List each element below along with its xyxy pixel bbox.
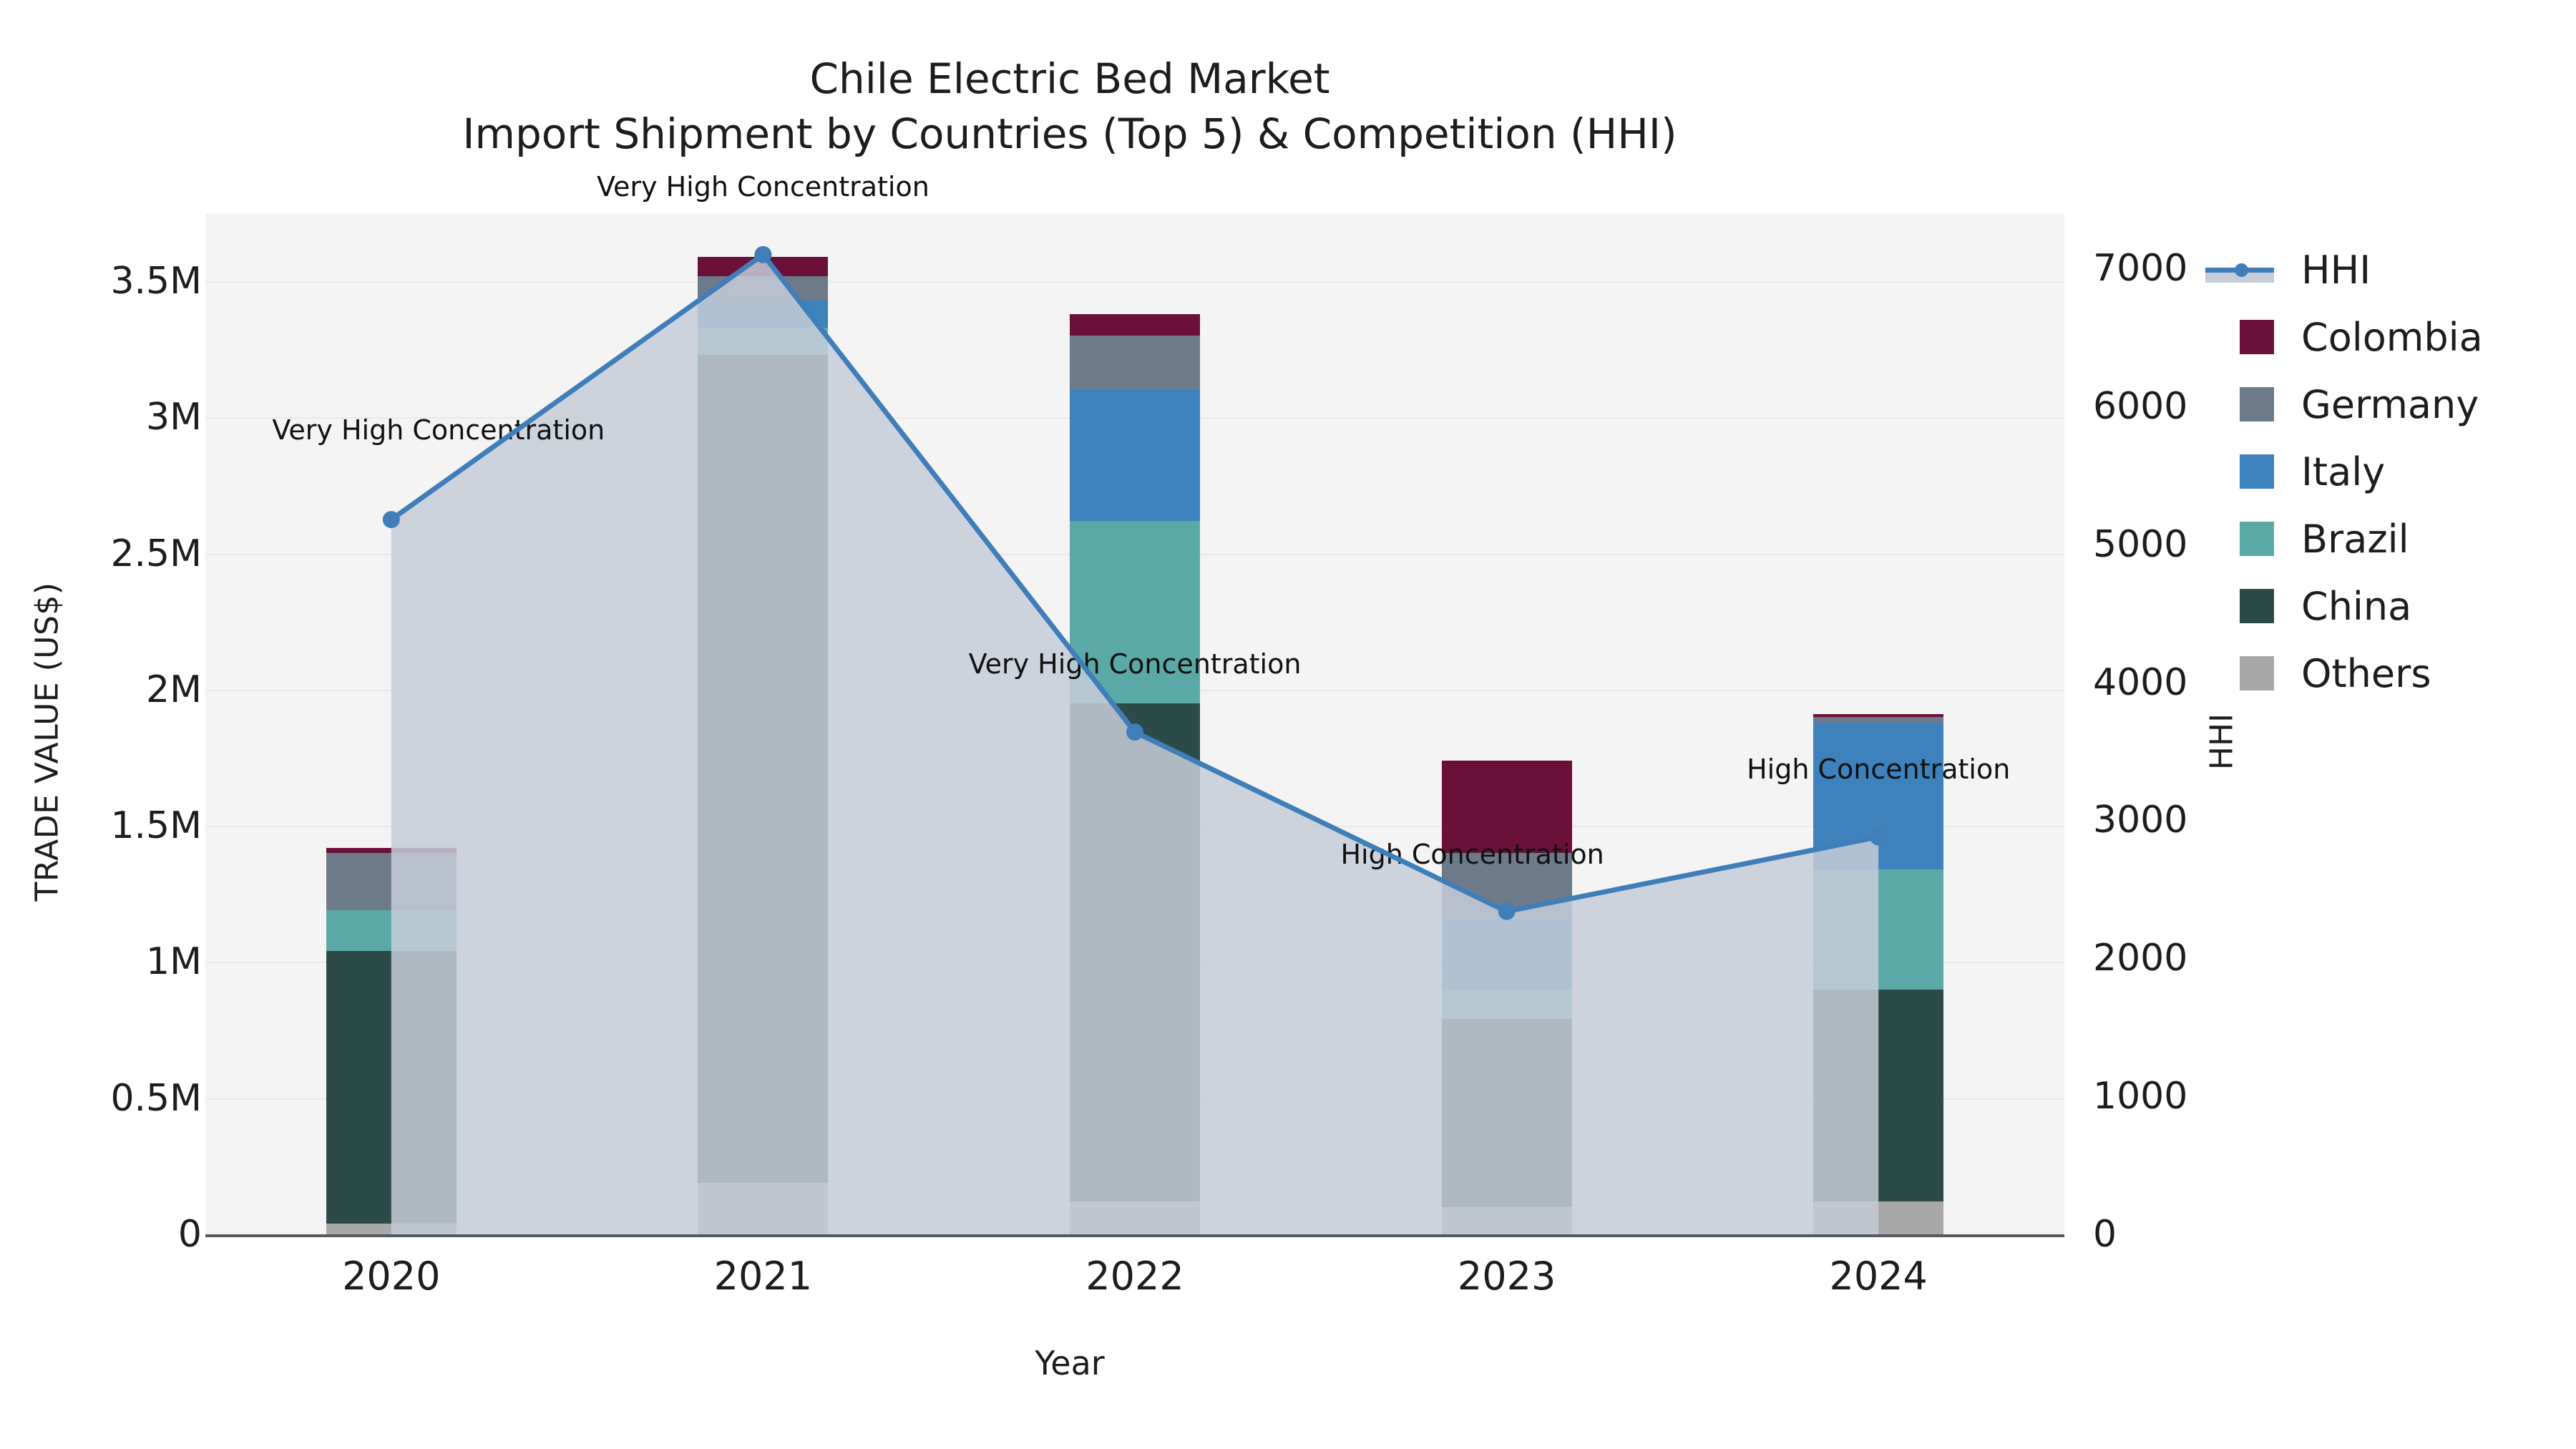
legend-swatch-others bbox=[2240, 656, 2274, 691]
legend-swatch-china bbox=[2240, 589, 2274, 623]
y-axis-left-tick: 1.5M bbox=[110, 804, 202, 847]
y-axis-right-tick: 3000 bbox=[2093, 799, 2187, 841]
chart-title: Chile Electric Bed Market Import Shipmen… bbox=[0, 52, 2140, 161]
legend-swatch-brazil bbox=[2240, 522, 2274, 556]
chart-figure: Chile Electric Bed Market Import Shipmen… bbox=[0, 0, 2576, 1449]
chart-title-line-1: Chile Electric Bed Market bbox=[0, 52, 2140, 107]
y-axis-left-tick: 3.5M bbox=[110, 260, 202, 303]
y-axis-right-tick: 6000 bbox=[2093, 385, 2187, 428]
y-axis-right-tick: 2000 bbox=[2093, 937, 2187, 980]
legend-label-others: Others bbox=[2301, 651, 2431, 696]
y-axis-right-label: HHI bbox=[2204, 599, 2240, 885]
hhi-marker-2024[interactable] bbox=[1870, 829, 1887, 846]
plot-area: Very High ConcentrationVery High Concent… bbox=[205, 213, 2064, 1234]
legend-label-germany: Germany bbox=[2301, 382, 2479, 427]
legend-item-china[interactable]: China bbox=[2240, 572, 2576, 640]
y-axis-right-tick: 1000 bbox=[2093, 1075, 2187, 1118]
legend-label-italy: Italy bbox=[2301, 449, 2385, 494]
hhi-line-path bbox=[391, 255, 1878, 912]
legend-item-colombia[interactable]: Colombia bbox=[2240, 303, 2576, 371]
legend-swatch-germany bbox=[2240, 387, 2274, 421]
chart-title-line-2: Import Shipment by Countries (Top 5) & C… bbox=[0, 107, 2140, 162]
y-axis-left-tick: 0 bbox=[178, 1213, 202, 1256]
legend-swatch-colombia bbox=[2240, 320, 2274, 354]
x-axis-tick-2022: 2022 bbox=[1028, 1254, 1242, 1299]
x-axis-tick-2021: 2021 bbox=[655, 1254, 870, 1299]
x-axis-line bbox=[205, 1234, 2064, 1237]
hhi-marker-2021[interactable] bbox=[754, 246, 771, 263]
legend-item-germany[interactable]: Germany bbox=[2240, 371, 2576, 438]
y-axis-left-label-wrap: TRADE VALUE (US$) bbox=[26, 0, 69, 1449]
x-axis-tick-2023: 2023 bbox=[1400, 1254, 1614, 1299]
legend-label-hhi: HHI bbox=[2301, 248, 2371, 293]
legend-item-others[interactable]: Others bbox=[2240, 640, 2576, 707]
y-axis-right-tick: 7000 bbox=[2093, 247, 2187, 290]
legend-label-colombia: Colombia bbox=[2301, 315, 2483, 360]
x-axis-label: Year bbox=[0, 1344, 2140, 1382]
x-axis-tick-2024: 2024 bbox=[1771, 1254, 1986, 1299]
legend-item-brazil[interactable]: Brazil bbox=[2240, 505, 2576, 572]
hhi-marker-swatch bbox=[2235, 263, 2248, 277]
y-axis-left-tick: 2.5M bbox=[110, 532, 202, 575]
legend: HHIColombiaGermanyItalyBrazilChinaOthers bbox=[2240, 236, 2576, 707]
y-axis-left-tick: 2M bbox=[146, 668, 202, 711]
legend-label-china: China bbox=[2301, 584, 2411, 629]
legend-item-hhi[interactable]: HHI bbox=[2240, 236, 2576, 303]
hhi-marker-2020[interactable] bbox=[383, 511, 400, 528]
legend-label-brazil: Brazil bbox=[2301, 517, 2409, 562]
annotation-2021: Very High Concentration bbox=[597, 171, 930, 203]
y-axis-left-tick: 3M bbox=[146, 396, 202, 439]
hhi-line-overlay bbox=[205, 213, 2064, 1234]
y-axis-left-label: TRADE VALUE (US$) bbox=[29, 348, 66, 1136]
hhi-marker-2023[interactable] bbox=[1498, 903, 1516, 920]
y-axis-right-tick: 4000 bbox=[2093, 661, 2187, 704]
y-axis-left-tick: 0.5M bbox=[110, 1077, 202, 1120]
hhi-line-swatch-icon bbox=[2205, 253, 2274, 287]
hhi-marker-2022[interactable] bbox=[1126, 723, 1143, 741]
y-axis-right-label-wrap: HHI bbox=[2200, 0, 2243, 1449]
legend-swatch-italy bbox=[2240, 454, 2274, 489]
legend-item-italy[interactable]: Italy bbox=[2240, 438, 2576, 505]
y-axis-right-tick: 5000 bbox=[2093, 523, 2187, 566]
x-axis-tick-2020: 2020 bbox=[284, 1254, 499, 1299]
y-axis-left-tick: 1M bbox=[146, 940, 202, 983]
y-axis-right-tick: 0 bbox=[2093, 1213, 2117, 1256]
